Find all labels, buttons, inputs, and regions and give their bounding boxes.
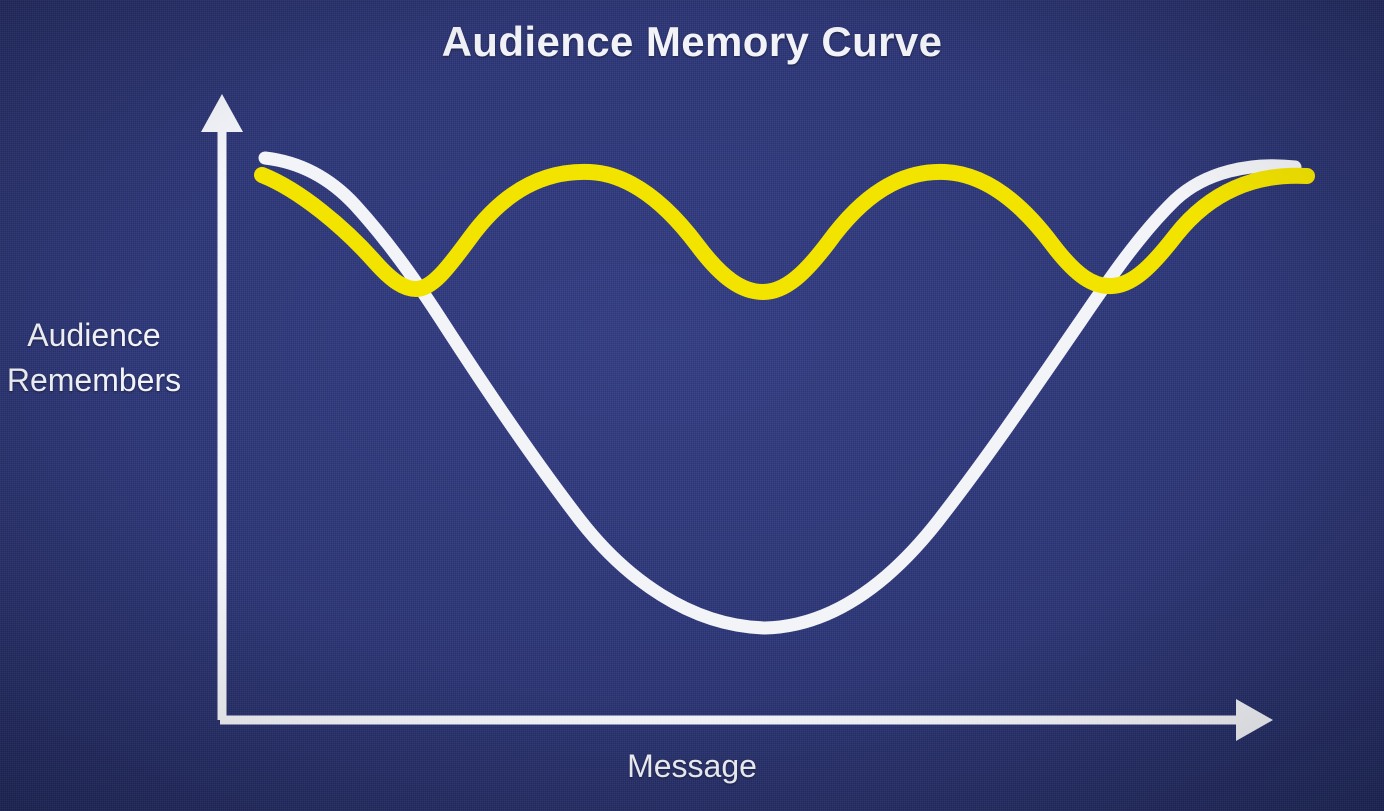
series-line-white [265,158,1295,628]
slide-canvas: Audience Memory Curve Audience Remembers… [0,0,1384,811]
up-arrow-icon [201,94,243,132]
right-arrow-icon [1236,699,1273,741]
memory-curve-chart [0,0,1384,811]
